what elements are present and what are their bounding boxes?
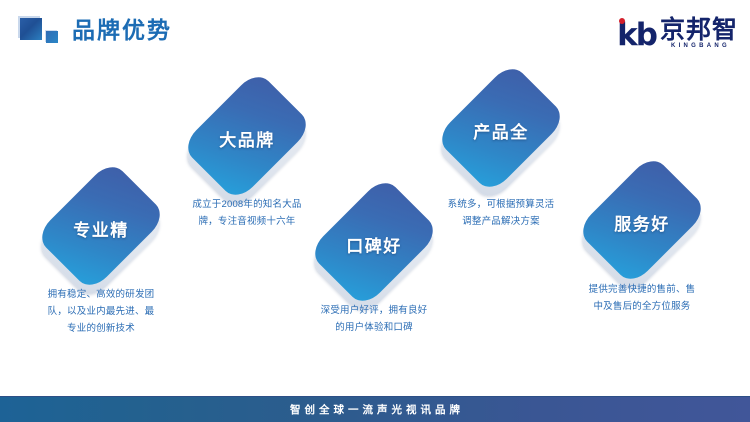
caption-line: 牌，专注音视频十六年 [164, 213, 330, 230]
diamond-label-2: 大品牌 [193, 126, 301, 151]
caption-line: 成立于2008年的知名大品 [164, 196, 330, 213]
logo-english-name: KINGBANG [668, 42, 730, 51]
caption-line: 系统多，可根据预算灵活 [418, 196, 584, 213]
diamond-label-4: 产品全 [447, 118, 555, 143]
diamond-label-1: 专业精 [47, 216, 155, 241]
feature-node-4: 产品全 [447, 74, 555, 182]
page-footer: 智创全球一流声光视讯品牌 [0, 396, 750, 422]
logo-dot-icon [619, 18, 625, 24]
feature-caption-1: 拥有稳定、高效的研发团 队，以及业内最先进、最 专业的创新技术 [18, 286, 184, 337]
feature-node-2: 大品牌 [193, 82, 301, 190]
caption-line: 调整产品解决方案 [418, 213, 584, 230]
caption-line: 提供完善快捷的售前、售 [559, 281, 725, 298]
feature-caption-3: 深受用户好评，拥有良好 的用户体验和口碑 [291, 302, 457, 336]
feature-node-1: 专业精 [47, 172, 155, 280]
feature-node-5: 服务好 [588, 166, 696, 274]
feature-caption-2: 成立于2008年的知名大品 牌，专注音视频十六年 [164, 196, 330, 230]
feature-caption-4: 系统多，可根据预算灵活 调整产品解决方案 [418, 196, 584, 230]
logo-chinese-name: 京邦智 [660, 17, 738, 43]
caption-line: 深受用户好评，拥有良好 [291, 302, 457, 319]
caption-line: 队，以及业内最先进、最 [18, 303, 184, 320]
caption-line: 专业的创新技术 [18, 320, 184, 337]
square-decor-large-icon [20, 18, 42, 40]
diamond-label-5: 服务好 [588, 210, 696, 235]
diamond-label-3: 口碑好 [320, 232, 428, 257]
feature-caption-5: 提供完善快捷的售前、售 中及售后的全方位服务 [559, 281, 725, 315]
caption-line: 拥有稳定、高效的研发团 [18, 286, 184, 303]
logo-monogram: kb [617, 20, 656, 51]
page-header: 品牌优势 kb 京邦智 KINGBANG [0, 0, 750, 64]
brand-logo: kb 京邦智 KINGBANG [617, 13, 738, 51]
caption-line: 的用户体验和口碑 [291, 319, 457, 336]
logo-text-block: 京邦智 KINGBANG [660, 17, 738, 51]
page-title: 品牌优势 [72, 15, 172, 45]
square-decor-small-icon [46, 31, 58, 43]
footer-slogan: 智创全球一流声光视讯品牌 [286, 402, 464, 417]
caption-line: 中及售后的全方位服务 [559, 298, 725, 315]
feature-node-3: 口碑好 [320, 188, 428, 296]
